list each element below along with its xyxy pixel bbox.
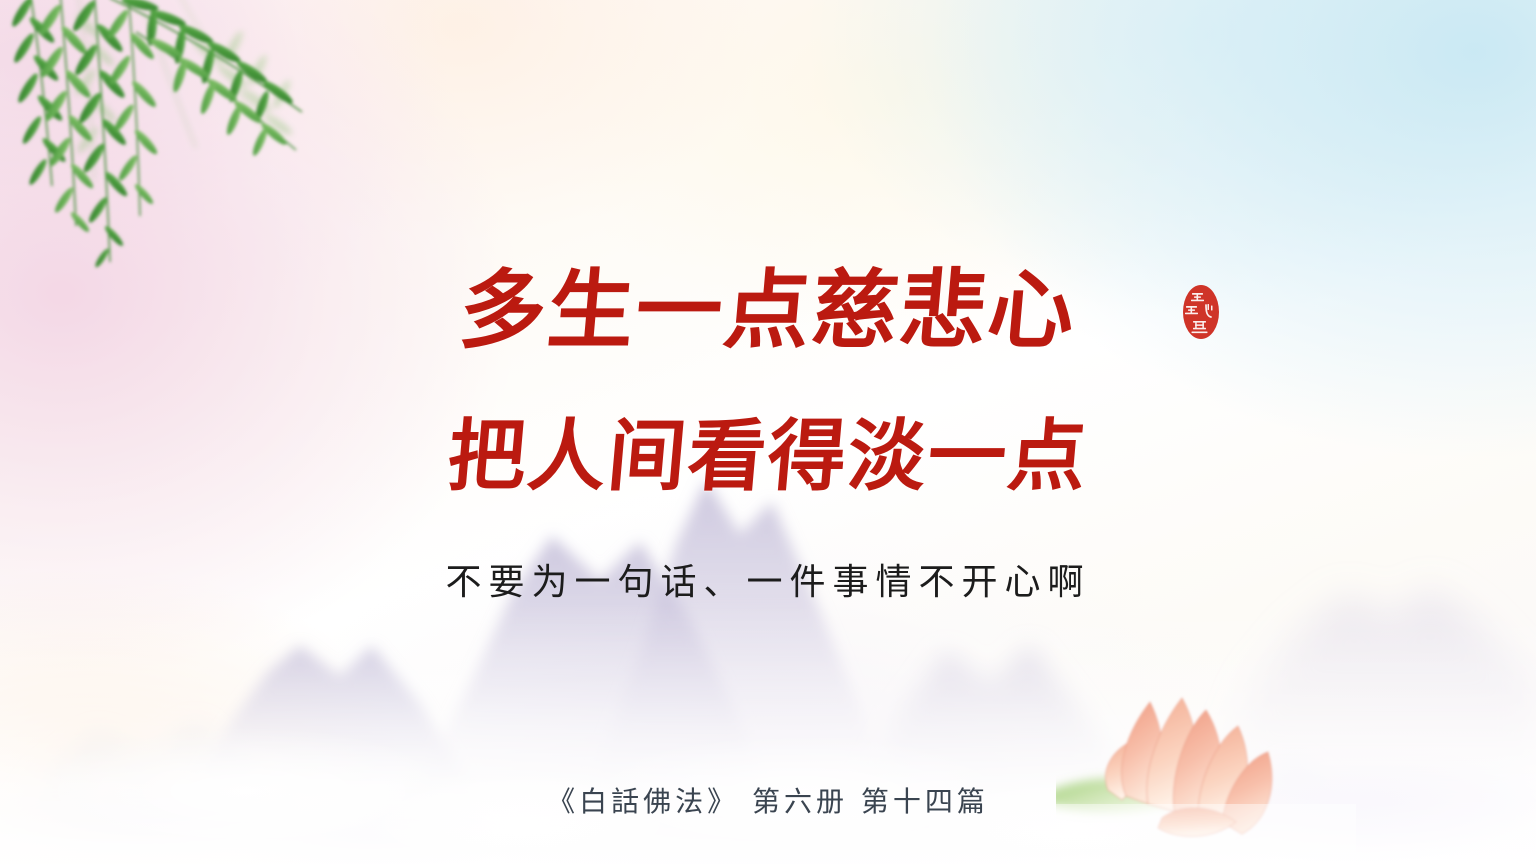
subtitle-text: 不要为一句话、一件事情不开心啊 <box>0 553 1536 605</box>
title-line-1: 多生一点慈悲心 <box>0 268 1536 354</box>
poster-canvas: 多生一点慈悲心 <box>0 0 1536 864</box>
title-line-2: 把人间看得淡一点 <box>0 418 1536 496</box>
source-citation: 《白話佛法》 第六册 第十四篇 <box>0 780 1536 820</box>
poster-text-content: 多生一点慈悲心 <box>0 0 1536 864</box>
seal-stamp-icon <box>1176 281 1226 343</box>
